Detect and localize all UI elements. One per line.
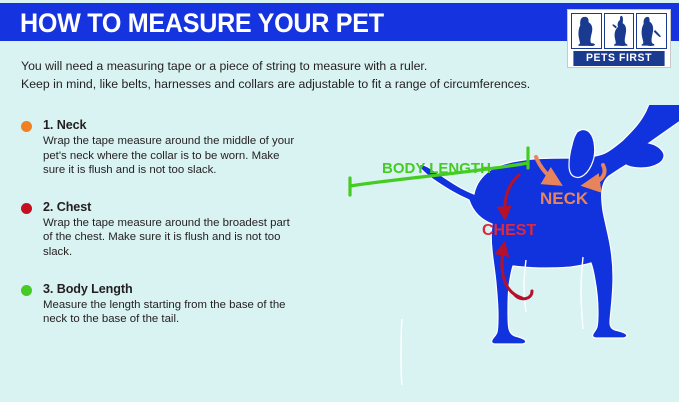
dog-sitting-icon	[572, 14, 601, 48]
intro-paragraph: You will need a measuring tape or a piec…	[21, 57, 611, 93]
logo-panel-1	[571, 13, 602, 49]
step-heading-body-length: 3. Body Length	[43, 282, 301, 296]
step-item-chest: 2. Chest Wrap the tape measure around th…	[21, 200, 301, 260]
step-bullet-neck	[21, 121, 32, 132]
step-bullet-chest	[21, 203, 32, 214]
annotation-label-body-length: BODY LENGTH	[382, 160, 491, 177]
intro-line-1: You will need a measuring tape or a piec…	[21, 57, 611, 75]
intro-line-2: Keep in mind, like belts, harnesses and …	[21, 75, 611, 93]
logo-panel-2	[604, 13, 635, 49]
dog-measurement-diagram: BODY LENGTH NECK CHEST	[300, 105, 679, 402]
page-title: HOW TO MEASURE YOUR PET	[20, 8, 384, 39]
infographic-root: HOW TO MEASURE YOUR PET	[0, 0, 679, 402]
annotation-label-neck: NECK	[540, 189, 589, 208]
dog-begging-icon	[605, 14, 634, 48]
steps-list: 1. Neck Wrap the tape measure around the…	[21, 118, 301, 349]
step-heading-neck: 1. Neck	[43, 118, 301, 132]
step-item-neck: 1. Neck Wrap the tape measure around the…	[21, 118, 301, 178]
step-body-body-length: Measure the length starting from the bas…	[43, 298, 301, 327]
step-heading-chest: 2. Chest	[43, 200, 301, 214]
step-bullet-body-length	[21, 285, 32, 296]
step-item-body-length: 3. Body Length Measure the length starti…	[21, 282, 301, 327]
step-body-neck: Wrap the tape measure around the middle …	[43, 134, 301, 178]
logo-panel-group	[571, 13, 667, 49]
logo-panel-3	[636, 13, 667, 49]
dog-sitting-back-icon	[637, 14, 666, 48]
step-body-chest: Wrap the tape measure around the broades…	[43, 216, 301, 260]
dog-silhouette	[401, 105, 679, 385]
annotation-label-chest: CHEST	[482, 222, 536, 239]
